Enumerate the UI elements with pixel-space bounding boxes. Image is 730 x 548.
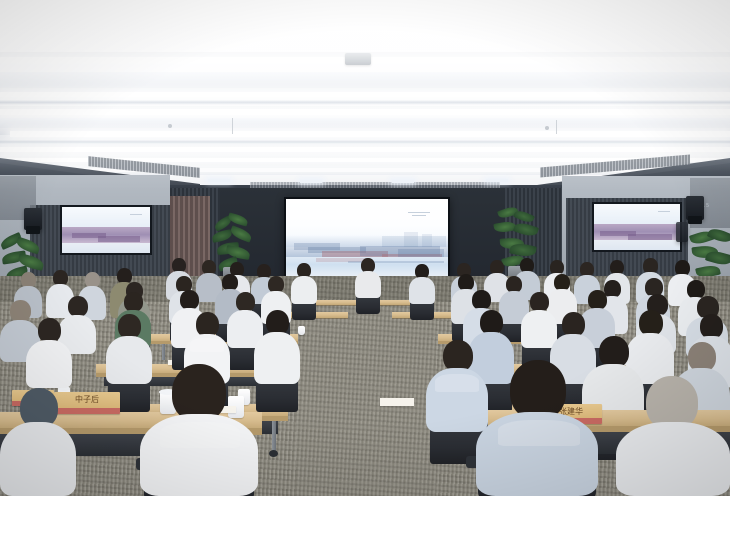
soffit-downlight-2 [300,180,322,183]
person-row-7-c2-foreground [476,360,598,496]
left-monitor-detail-2 [98,236,140,242]
ceiling-light-strip-3 [0,109,730,115]
suspension-wire-left [232,118,233,134]
person-row-7-right-edge [616,376,730,496]
left-monitor-river [62,243,150,253]
ceiling-light-strip-5 [0,147,730,152]
ceiling-seam-1 [0,100,730,105]
person-row-7-c1-foreground [140,364,258,496]
person-row-1-c1 [355,258,381,298]
person-row-2-c3 [409,264,435,304]
right-monitor-sky [594,204,680,226]
person-row-2-c2 [291,263,317,304]
handout-row-5-a [380,398,414,406]
right-wall-speaker-grill [688,216,702,224]
left-monitor-watermark [130,214,142,215]
soffit-downlight-4 [486,179,508,182]
carpet-center-aisle [296,300,436,496]
ceiling-speaker-icon [345,53,371,65]
ceiling-light-strip-2 [0,92,730,97]
right-monitor-river [594,240,680,250]
ceiling-light-strip-4 [10,131,730,137]
screen-watermark-bar-1 [408,212,430,213]
table-leg-row-5-b [272,421,276,453]
center-right-speaker-icon [676,222,688,242]
right-monitor-watermark [658,211,670,212]
person-row-5-c2 [254,310,300,384]
table-caster-row-5-b [269,450,278,457]
screen-watermark-bar-2 [412,215,426,216]
left-monitor-sky [62,207,150,229]
suspension-wire-right [556,120,557,134]
conference-room-photo: 2.5 [0,0,730,496]
soffit-downlight-1 [208,179,230,182]
right-led-monitor [594,204,680,250]
left-wall-speaker-grill [26,226,40,234]
person-row-7-left-edge [0,388,76,496]
table-leg-row-3-a [162,344,165,360]
left-led-monitor [62,207,150,253]
soffit-downlight-3 [392,180,414,183]
photograph-frame: 2.5 [0,0,730,548]
photo-letterbox-bottom [0,496,730,548]
sprinkler-head-icon [545,126,549,130]
smoke-detector-icon [168,124,172,128]
